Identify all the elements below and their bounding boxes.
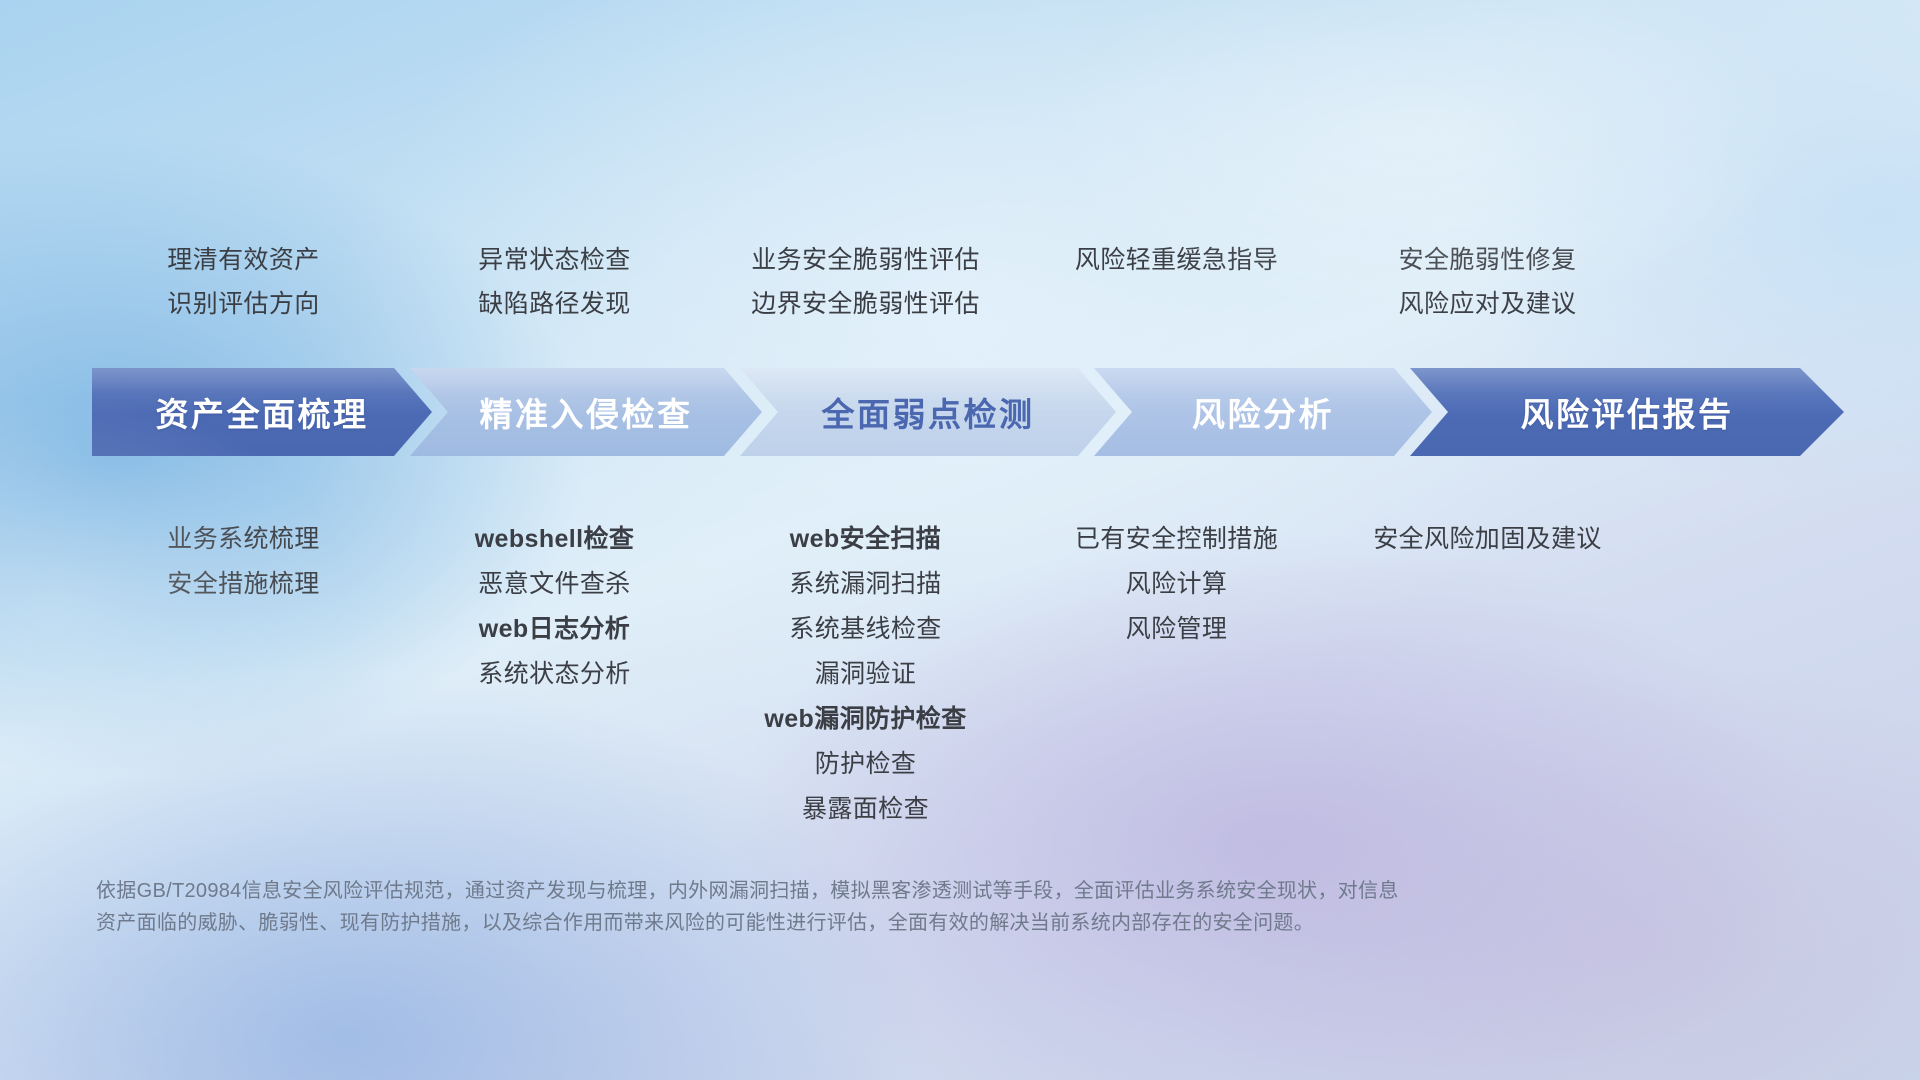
bottom-descriptors-stage-3: web安全扫描系统漏洞扫描系统基线检查漏洞验证web漏洞防护检查防护检查暴露面检… [714,522,1017,826]
footer-line-1: 依据GB/T20984信息安全风险评估规范，通过资产发现与梳理，内外网漏洞扫描，… [96,875,1606,907]
bottom-descriptors-stage-2: webshell检查恶意文件查杀web日志分析系统状态分析 [403,522,706,826]
descriptor-item: 安全脆弱性修复 [1399,243,1577,277]
descriptor-item: web安全扫描 [790,522,941,556]
chevron-stage-risk-analysis[interactable]: 风险分析 [1094,368,1432,456]
descriptor-item: 风险管理 [1126,612,1228,646]
descriptor-item: 漏洞验证 [815,657,917,691]
descriptor-item: 风险应对及建议 [1399,287,1577,321]
bottom-descriptors-row: 业务系统梳理安全措施梳理 webshell检查恶意文件查杀web日志分析系统状态… [92,522,1842,826]
top-descriptors-stage-4: 风险轻重缓急指导 [1025,243,1328,321]
chevron-stage-weakness-detection[interactable]: 全面弱点检测 [740,368,1116,456]
descriptor-item: 理清有效资产 [167,243,319,277]
top-descriptors-stage-1: 理清有效资产识别评估方向 [92,243,395,321]
descriptor-item: 异常状态检查 [478,243,630,277]
descriptor-item: web日志分析 [479,612,630,646]
descriptor-item: 风险计算 [1126,567,1228,601]
descriptor-item: 安全风险加固及建议 [1373,522,1602,556]
descriptor-item: 系统状态分析 [478,657,630,691]
descriptor-item: 缺陷路径发现 [478,287,630,321]
top-descriptors-stage-2: 异常状态检查缺陷路径发现 [403,243,706,321]
descriptor-item: 风险轻重缓急指导 [1075,243,1278,277]
chevron-stage-risk-report[interactable]: 风险评估报告 [1410,368,1844,456]
top-descriptors-stage-3: 业务安全脆弱性评估边界安全脆弱性评估 [714,243,1017,321]
descriptor-item: 业务安全脆弱性评估 [751,243,980,277]
descriptor-item: 恶意文件查杀 [478,567,630,601]
chevron-stage-asset-inventory[interactable]: 资产全面梳理 [92,368,432,456]
chevron-label: 风险评估报告 [1521,388,1734,436]
descriptor-item: 已有安全控制措施 [1075,522,1278,556]
chevron-label: 资产全面梳理 [156,388,369,436]
top-descriptors-stage-5: 安全脆弱性修复风险应对及建议 [1336,243,1639,321]
footer-line-2: 资产面临的威胁、脆弱性、现有防护措施，以及综合作用而带来风险的可能性进行评估，全… [96,907,1606,939]
bottom-descriptors-stage-4: 已有安全控制措施风险计算风险管理 [1025,522,1328,826]
descriptor-item: 系统漏洞扫描 [789,567,941,601]
chevron-label: 精准入侵检查 [480,388,693,436]
descriptor-item: 识别评估方向 [167,287,319,321]
process-chevron-banner: 资产全面梳理 精准入侵检查 全面弱点检测 风险分析 风险评估报告 [92,368,1844,456]
descriptor-item: web漏洞防护检查 [764,702,966,736]
descriptor-item: 边界安全脆弱性评估 [751,287,980,321]
bottom-descriptors-stage-5: 安全风险加固及建议 [1336,522,1639,826]
chevron-stage-intrusion-check[interactable]: 精准入侵检查 [410,368,762,456]
descriptor-item: 业务系统梳理 [167,522,319,556]
descriptor-item: webshell检查 [475,522,635,556]
footer-description: 依据GB/T20984信息安全风险评估规范，通过资产发现与梳理，内外网漏洞扫描，… [96,875,1606,940]
descriptor-item: 防护检查 [815,747,917,781]
chevron-label: 全面弱点检测 [822,388,1035,436]
top-descriptors-row: 理清有效资产识别评估方向 异常状态检查缺陷路径发现 业务安全脆弱性评估边界安全脆… [92,243,1842,321]
descriptor-item: 安全措施梳理 [167,567,319,601]
descriptor-item: 暴露面检查 [802,792,929,826]
chevron-label: 风险分析 [1192,388,1334,436]
descriptor-item: 系统基线检查 [789,612,941,646]
slide-canvas: 理清有效资产识别评估方向 异常状态检查缺陷路径发现 业务安全脆弱性评估边界安全脆… [0,0,1920,1080]
bottom-descriptors-stage-1: 业务系统梳理安全措施梳理 [92,522,395,826]
